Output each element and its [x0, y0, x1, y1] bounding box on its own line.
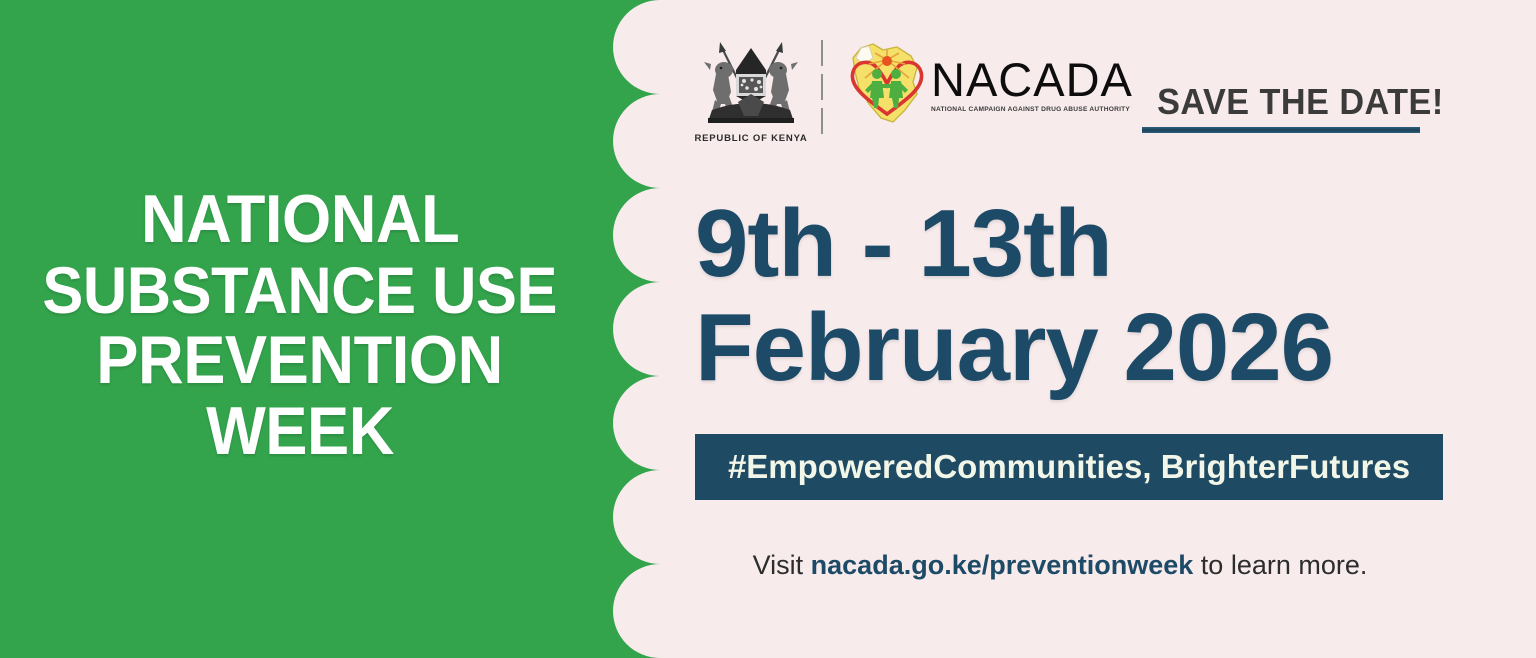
- hashtag-text: #EmpoweredCommunities, BrighterFutures: [728, 448, 1410, 486]
- nacada-wordmark-block: NACADA NATIONAL CAMPAIGN AGAINST DRUG AB…: [931, 56, 1136, 113]
- logo-divider: [821, 40, 823, 136]
- headline-line-1: NATIONAL: [141, 187, 459, 252]
- save-the-date-block: SAVE THE DATE!: [1142, 84, 1444, 133]
- save-the-date-underline: [1142, 127, 1420, 133]
- headline-line-3: PREVENTION: [97, 328, 503, 393]
- event-date-month-year: February 2026: [695, 300, 1333, 396]
- visit-suffix: to learn more.: [1193, 550, 1367, 580]
- headline-line-4: WEEK: [206, 399, 394, 464]
- headline-line-2: SUBSTANCE USE: [43, 259, 558, 322]
- nacada-logo: NACADA NATIONAL CAMPAIGN AGAINST DRUG AB…: [839, 38, 1136, 130]
- kenya-coat-of-arms: REPUBLIC OF KENYA: [695, 34, 807, 144]
- kenya-crest-caption: REPUBLIC OF KENYA: [695, 133, 808, 144]
- nacada-tagline: NATIONAL CAMPAIGN AGAINST DRUG ABUSE AUT…: [931, 106, 1130, 113]
- visit-line: Visit nacada.go.ke/preventionweek to lea…: [660, 550, 1460, 581]
- kenya-coat-of-arms-icon: [698, 34, 804, 130]
- pink-panel: REPUBLIC OF KENYA: [660, 0, 1536, 658]
- event-banner: NATIONAL SUBSTANCE USE PREVENTION WEEK: [0, 0, 1536, 658]
- nacada-wordmark: NACADA: [931, 56, 1136, 103]
- nacada-logo-icon: [839, 38, 935, 130]
- event-date-block: 9th - 13th February 2026: [695, 196, 1333, 396]
- headline-block: NATIONAL SUBSTANCE USE PREVENTION WEEK: [0, 0, 600, 658]
- save-the-date-text: SAVE THE DATE!: [1157, 84, 1444, 120]
- visit-prefix: Visit: [753, 550, 811, 580]
- hashtag-band: #EmpoweredCommunities, BrighterFutures: [695, 434, 1443, 500]
- visit-url[interactable]: nacada.go.ke/preventionweek: [811, 550, 1194, 580]
- event-date-range: 9th - 13th: [695, 196, 1333, 292]
